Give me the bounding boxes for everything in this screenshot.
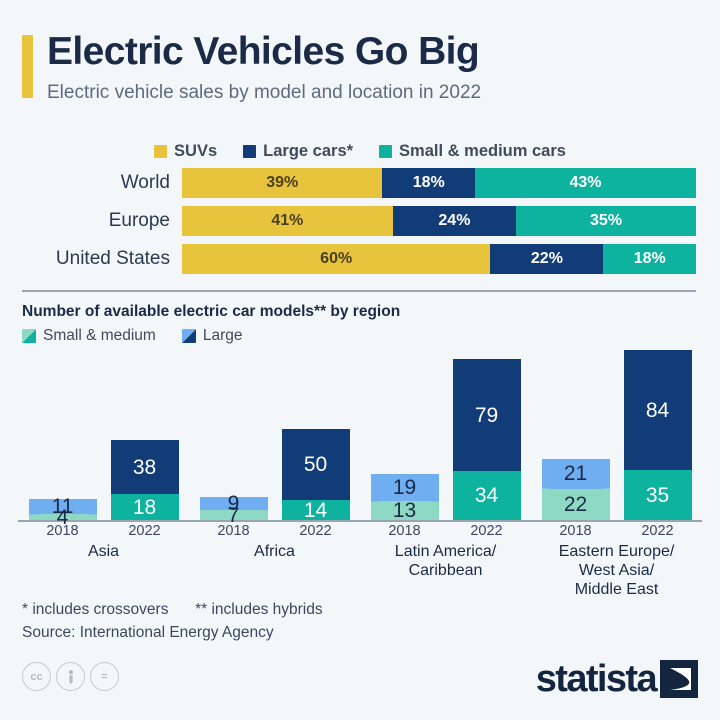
by-person-icon[interactable] xyxy=(56,662,85,691)
bar-2018-labels: 2122 xyxy=(550,459,602,520)
bar-2022: 8435 xyxy=(624,350,692,520)
cc-icon[interactable]: cc xyxy=(22,662,51,691)
region-label: Asia xyxy=(18,543,189,562)
footer: cc = statista xyxy=(22,660,698,702)
pct-bar: 60%22%18% xyxy=(182,244,696,274)
pct-row-label: Europe xyxy=(22,210,182,232)
bar-value-large: 84 xyxy=(624,350,692,470)
sales-share-chart: World39%18%43%Europe41%24%35%United Stat… xyxy=(22,168,696,282)
bar-value-large: 79 xyxy=(453,359,521,472)
legend-swatch-icon xyxy=(243,145,256,158)
legend-swatch-icon xyxy=(22,329,36,343)
pct-row: World39%18%43% xyxy=(22,168,696,198)
bar-2018-inner: 2122 xyxy=(542,459,610,520)
region-label: Africa xyxy=(189,543,360,562)
bar-2018-labels: 1913 xyxy=(379,474,431,520)
legend-top: SUVsLarge cars*Small & medium cars xyxy=(0,142,720,161)
pct-row-label: United States xyxy=(22,248,182,270)
year-label: 2018 xyxy=(29,523,97,539)
bar-value-small-medium: 34 xyxy=(453,471,521,520)
pct-segment: 22% xyxy=(490,244,603,274)
year-label: 2022 xyxy=(111,523,179,539)
bar-2018: 2122 xyxy=(542,459,610,520)
legend-item-suvs: SUVs xyxy=(154,142,217,161)
bar-2018-inner: 97 xyxy=(200,497,268,520)
year-axis: 20182022201820222018202220182022 xyxy=(18,523,702,539)
creative-commons-badges: cc = xyxy=(22,662,119,691)
pct-segment: 24% xyxy=(393,206,516,236)
legend-item-large-cars: Large cars* xyxy=(243,142,353,161)
pct-segment: 60% xyxy=(182,244,490,274)
bar-group: 19137934 xyxy=(360,359,531,520)
region-label-line: Africa xyxy=(189,543,360,562)
nd-equals-icon[interactable]: = xyxy=(90,662,119,691)
bar-value-small-medium: 22 xyxy=(550,489,602,520)
models-legend-item: Large xyxy=(182,327,243,345)
source-line: Source: International Energy Agency xyxy=(22,621,323,644)
page-subtitle: Electric vehicle sales by model and loca… xyxy=(47,82,700,105)
models-legend-item: Small & medium xyxy=(22,327,156,345)
footnote-hybrids: ** includes hybrids xyxy=(195,601,323,618)
pct-segment: 18% xyxy=(382,168,475,198)
bar-2018: 97 xyxy=(200,497,268,520)
page-title: Electric Vehicles Go Big xyxy=(47,32,700,73)
bar-2018: 1913 xyxy=(371,474,439,520)
year-label: 2022 xyxy=(282,523,350,539)
pct-row: Europe41%24%35% xyxy=(22,206,696,236)
bar-value-large: 38 xyxy=(111,440,179,494)
models-chart-title: Number of available electric car models*… xyxy=(22,303,400,321)
region-label-line: West Asia/ xyxy=(531,562,702,581)
pct-segment: 39% xyxy=(182,168,382,198)
bar-value-small-medium: 18 xyxy=(111,494,179,520)
legend-label: SUVs xyxy=(174,142,217,161)
bar-group: 1143818 xyxy=(18,440,189,520)
region-label: Latin America/Caribbean xyxy=(360,543,531,581)
pct-row-label: World xyxy=(22,172,182,194)
region-label-line: Asia xyxy=(18,543,189,562)
bar-2018-inner: 114 xyxy=(29,499,97,520)
bar-2018: 114 xyxy=(29,499,97,520)
chart-baseline xyxy=(18,520,702,522)
statista-wordmark: statista xyxy=(536,660,656,698)
pct-bar: 41%24%35% xyxy=(182,206,696,236)
year-label: 2022 xyxy=(453,523,521,539)
legend-label: Small & medium cars xyxy=(399,142,566,161)
bar-value-large: 50 xyxy=(282,429,350,500)
year-label: 2018 xyxy=(371,523,439,539)
bar-2018-labels: 114 xyxy=(37,499,89,520)
legend-label: Small & medium xyxy=(43,327,156,345)
legend-label: Large xyxy=(203,327,243,345)
bar-value-small-medium: 35 xyxy=(624,470,692,520)
year-label: 2018 xyxy=(542,523,610,539)
bar-value-small-medium: 14 xyxy=(282,500,350,520)
bar-2022: 5014 xyxy=(282,429,350,520)
year-label: 2022 xyxy=(624,523,692,539)
bar-value-small-medium: 13 xyxy=(379,501,431,520)
footnote-crossovers: * includes crossovers xyxy=(22,601,168,618)
pct-segment: 41% xyxy=(182,206,393,236)
region-label: Eastern Europe/West Asia/Middle East xyxy=(531,543,702,600)
statista-mark-icon xyxy=(660,660,698,698)
legend-label: Large cars* xyxy=(263,142,353,161)
pct-row: United States60%22%18% xyxy=(22,244,696,274)
legend-swatch-icon xyxy=(154,145,167,158)
bar-2018-labels: 97 xyxy=(208,497,260,520)
bar-value-large: 21 xyxy=(550,459,602,489)
bar-2022: 7934 xyxy=(453,359,521,520)
bar-2022: 3818 xyxy=(111,440,179,520)
bar-group: 975014 xyxy=(189,429,360,520)
bar-value-small-medium: 7 xyxy=(208,510,260,520)
region-label-line: Middle East xyxy=(531,581,702,600)
footnotes: * includes crossovers ** includes hybrid… xyxy=(22,598,323,645)
bar-group: 21228435 xyxy=(531,350,702,520)
legend-item-small-medium-cars: Small & medium cars xyxy=(379,142,566,161)
region-label-line: Latin America/ xyxy=(360,543,531,562)
region-label-line: Eastern Europe/ xyxy=(531,543,702,562)
region-label-line: Caribbean xyxy=(360,562,531,581)
models-by-region-chart: 11438189750141913793421228435 xyxy=(18,350,702,522)
infographic-root: Electric Vehicles Go Big Electric vehicl… xyxy=(0,0,720,720)
pct-segment: 35% xyxy=(516,206,696,236)
bar-2018-inner: 1913 xyxy=(371,474,439,520)
header: Electric Vehicles Go Big Electric vehicl… xyxy=(22,32,700,104)
legend-swatch-icon xyxy=(379,145,392,158)
bar-value-small-medium: 4 xyxy=(37,514,89,520)
year-label: 2018 xyxy=(200,523,268,539)
legend-models: Small & mediumLarge xyxy=(22,327,243,345)
section-divider xyxy=(22,290,696,292)
accent-bar xyxy=(22,35,33,98)
pct-segment: 18% xyxy=(603,244,696,274)
pct-bar: 39%18%43% xyxy=(182,168,696,198)
pct-segment: 43% xyxy=(475,168,696,198)
statista-logo[interactable]: statista xyxy=(536,660,698,698)
legend-swatch-icon xyxy=(182,329,196,343)
bar-value-large: 19 xyxy=(379,474,431,501)
